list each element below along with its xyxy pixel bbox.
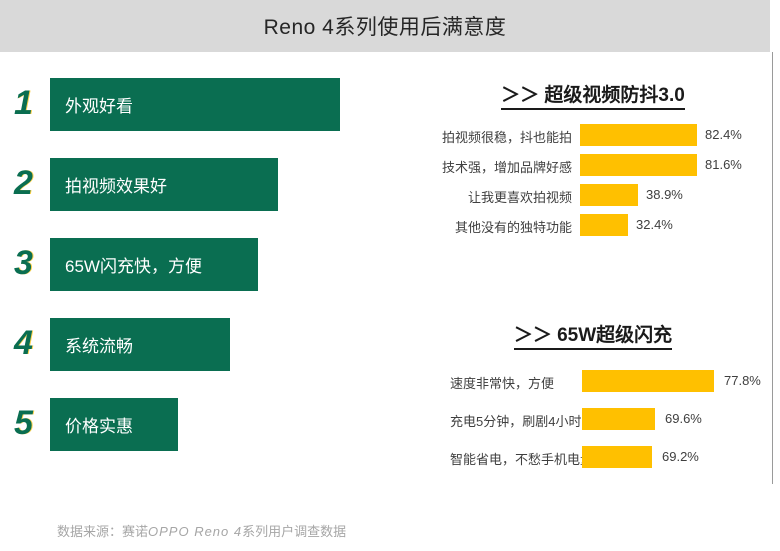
bar-fill <box>582 408 655 430</box>
bar-row[interactable]: 其他没有的独特功能 32.4% <box>428 212 758 242</box>
data-source-brand: OPPO Reno 4 <box>148 524 242 539</box>
bar-row[interactable]: 智能省电，不愁手机电量 69.2% <box>428 440 758 478</box>
list-item-label: 拍视频效果好 <box>50 172 167 197</box>
bar-category-label: 技术强，增加品牌好感 <box>428 157 572 176</box>
chart-heading: ＞＞ 65W超级闪充 <box>514 320 672 350</box>
list-item-box: 系统流畅 <box>50 318 230 371</box>
list-item-label: 价格实惠 <box>50 412 133 437</box>
bar-value-label: 77.8% <box>724 373 761 388</box>
data-source-prefix: 数据来源：赛诺 <box>57 524 148 539</box>
bar-fill <box>580 214 628 236</box>
bar-row[interactable]: 拍视频很稳，抖也能拍 82.4% <box>428 122 758 152</box>
list-item-number: 1 <box>14 86 33 120</box>
chart-super-video-stabilization: ＞＞ 超级视频防抖3.0 拍视频很稳，抖也能拍 82.4% 技术强，增加品牌好感… <box>428 80 758 242</box>
bar-category-label: 让我更喜欢拍视频 <box>428 187 572 206</box>
bar-category-label: 其他没有的独特功能 <box>428 217 572 236</box>
list-item-label: 系统流畅 <box>50 332 133 357</box>
bar-category-label: 拍视频很稳，抖也能拍 <box>428 127 572 146</box>
data-source-suffix: 系列用户调查数据 <box>242 524 346 539</box>
bar-fill <box>580 184 638 206</box>
bar-fill <box>580 154 697 176</box>
bar-value-label: 38.9% <box>646 187 683 202</box>
bar-row[interactable]: 让我更喜欢拍视频 38.9% <box>428 182 758 212</box>
slide-canvas: Reno 4系列使用后满意度 1 外观好看 2 拍视频效果好 3 65W闪充快，… <box>0 0 780 551</box>
bar-row[interactable]: 充电5分钟，刷剧4小时 69.6% <box>428 402 758 440</box>
bar-value-label: 81.6% <box>705 157 742 172</box>
list-item-box: 拍视频效果好 <box>50 158 278 211</box>
list-item-box: 65W闪充快，方便 <box>50 238 258 291</box>
bar-category-label: 充电5分钟，刷剧4小时 <box>450 411 600 430</box>
list-item-label: 外观好看 <box>50 92 133 117</box>
bar-value-label: 32.4% <box>636 217 673 232</box>
bar-fill <box>582 370 714 392</box>
bar-fill <box>580 124 697 146</box>
list-item[interactable]: 2 拍视频效果好 <box>0 158 400 238</box>
satisfaction-reason-list: 1 外观好看 2 拍视频效果好 3 65W闪充快，方便 4 系统流畅 5 <box>0 78 400 478</box>
bar-value-label: 69.6% <box>665 411 702 426</box>
chart-bars: 速度非常快，方便 77.8% 充电5分钟，刷剧4小时 69.6% 智能省电，不愁… <box>428 364 758 478</box>
list-item-number: 3 <box>14 246 33 280</box>
bar-row[interactable]: 技术强，增加品牌好感 81.6% <box>428 152 758 182</box>
list-item-box: 外观好看 <box>50 78 340 131</box>
list-item[interactable]: 5 价格实惠 <box>0 398 400 478</box>
bar-row[interactable]: 速度非常快，方便 77.8% <box>428 364 758 402</box>
list-item[interactable]: 4 系统流畅 <box>0 318 400 398</box>
bar-fill <box>582 446 652 468</box>
list-item[interactable]: 1 外观好看 <box>0 78 400 158</box>
chart-bars: 拍视频很稳，抖也能拍 82.4% 技术强，增加品牌好感 81.6% 让我更喜欢拍… <box>428 122 758 242</box>
list-item-label: 65W闪充快，方便 <box>50 252 202 277</box>
list-item-number: 2 <box>14 166 33 200</box>
bar-value-label: 82.4% <box>705 127 742 142</box>
slide-right-divider <box>772 52 773 484</box>
list-item-number: 4 <box>14 326 33 360</box>
chart-heading: ＞＞ 超级视频防抖3.0 <box>501 80 685 110</box>
list-item-box: 价格实惠 <box>50 398 178 451</box>
bar-value-label: 69.2% <box>662 449 699 464</box>
bar-category-label: 速度非常快，方便 <box>450 373 600 392</box>
list-item[interactable]: 3 65W闪充快，方便 <box>0 238 400 318</box>
page-title: Reno 4系列使用后满意度 <box>0 0 770 52</box>
chart-65w-super-flash-charge: ＞＞ 65W超级闪充 速度非常快，方便 77.8% 充电5分钟，刷剧4小时 69… <box>428 320 758 478</box>
data-source-note: 数据来源：赛诺OPPO Reno 4系列用户调查数据 <box>57 521 346 540</box>
list-item-number: 5 <box>14 406 33 440</box>
